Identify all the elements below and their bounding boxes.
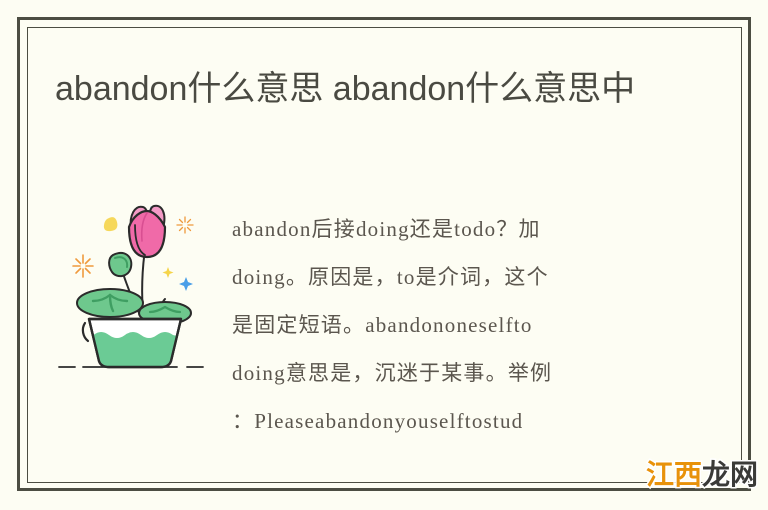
- tulip-flower: [129, 206, 165, 257]
- article-body: abandon后接doing还是todo？加 doing。原因是，to是介词，这…: [232, 205, 672, 445]
- watermark-text-orange: 江西: [646, 459, 702, 490]
- lily-pad-left: [77, 289, 143, 317]
- leaf-bud: [109, 253, 131, 276]
- watermark-text-dark: 龙网: [702, 459, 758, 490]
- site-watermark: 江西龙网: [646, 459, 758, 491]
- body-line: doing。原因是，to是介词，这个: [232, 253, 672, 301]
- page-title: abandon什么意思 abandon什么意思中: [55, 66, 695, 112]
- flower-pot: [83, 319, 181, 367]
- body-line: ：Pleaseabandonyouselftostud: [232, 397, 672, 445]
- body-line: doing意思是，沉迷于某事。举例: [232, 349, 672, 397]
- potted-tulip-icon: [55, 195, 215, 370]
- body-line: 是固定短语。abandononeselfto: [232, 301, 672, 349]
- body-line: abandon后接doing还是todo？加: [232, 205, 672, 253]
- article-card: abandon什么意思 abandon什么意思中: [0, 0, 768, 510]
- article-content: abandon后接doing还是todo？加 doing。原因是，to是介词，这…: [55, 195, 695, 460]
